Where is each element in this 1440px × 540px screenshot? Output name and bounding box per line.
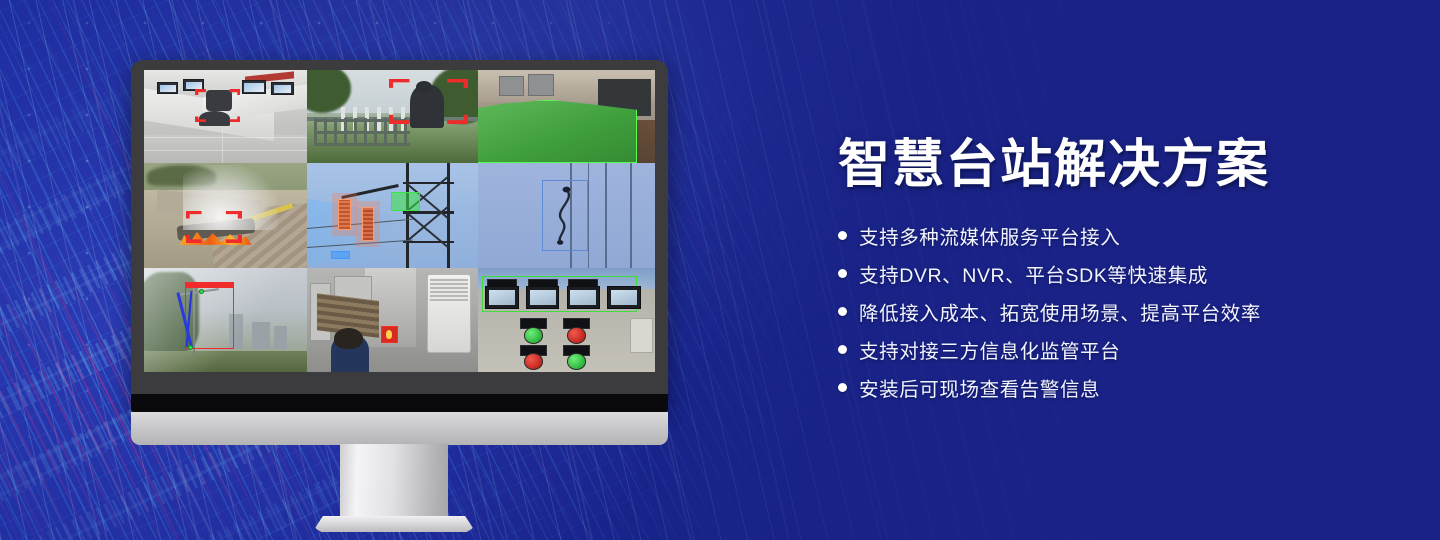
- feature-label: 支持DVR、NVR、平台SDK等快速集成: [859, 259, 1208, 288]
- detection-flame-alarm-icon: [381, 326, 398, 343]
- bullet-dot-icon: [838, 307, 847, 316]
- tower-brace: [406, 212, 451, 250]
- panel-indicator-red-1[interactable]: [567, 327, 586, 344]
- feature-item: 支持多种流媒体服务平台接入: [838, 216, 1398, 254]
- video-wall-grid: [144, 70, 655, 372]
- detection-corner-box-red: [186, 211, 241, 243]
- tarp-concrete-block-2: [528, 74, 555, 96]
- detection-corner-box-red: [389, 79, 468, 124]
- pole-vertex-bottom: [188, 345, 193, 350]
- insulator-highlight-1: [338, 199, 352, 231]
- panel-indicator-green-2[interactable]: [567, 353, 586, 370]
- feature-item: 安装后可现场查看告警信息: [838, 368, 1398, 406]
- indoor-person-head: [334, 328, 363, 349]
- panel-meter-4: [607, 286, 641, 309]
- video-cell-tower-insulators[interactable]: [307, 163, 478, 268]
- panel-meter-2: [526, 286, 560, 309]
- detection-box-green: [391, 192, 420, 211]
- sky-power-line-2: [588, 163, 590, 268]
- room-floor-line-1: [144, 137, 307, 138]
- sky-foreign-object: [549, 186, 581, 245]
- room-monitor-4: [271, 82, 294, 95]
- bullet-dot-icon: [838, 231, 847, 240]
- video-cell-sky-foreign-object[interactable]: [478, 163, 655, 268]
- monitor-stand-base: [315, 516, 473, 532]
- feature-item: 降低接入成本、拓宽使用场景、提高平台效率: [838, 292, 1398, 330]
- monitor-device: [131, 60, 668, 412]
- bullet-dot-icon: [838, 269, 847, 278]
- video-cell-control-panel[interactable]: [478, 268, 655, 372]
- sky-power-line-3: [605, 163, 607, 268]
- feature-label: 支持多种流媒体服务平台接入: [859, 221, 1120, 250]
- sky-power-line-4: [630, 163, 632, 268]
- banner-root: 智慧台站解决方案 支持多种流媒体服务平台接入 支持DVR、NVR、平台SDK等快…: [0, 0, 1440, 540]
- indoor-ac-vent: [430, 278, 468, 301]
- tower-main-leg-2: [447, 163, 450, 268]
- tower-cross-1: [403, 182, 454, 185]
- insulator-highlight-2: [362, 207, 374, 241]
- video-cell-field-fire[interactable]: [144, 163, 307, 268]
- feature-label: 安装后可现场查看告警信息: [859, 373, 1100, 402]
- panel-indicator-green-1[interactable]: [524, 327, 543, 344]
- video-cell-equipment-room[interactable]: [307, 268, 478, 372]
- room-monitor-3: [242, 80, 266, 94]
- detection-polygon-green: [478, 100, 637, 163]
- detection-corner-box-red: [195, 89, 241, 122]
- bullet-dot-icon: [838, 383, 847, 392]
- feature-list: 支持多种流媒体服务平台接入 支持DVR、NVR、平台SDK等快速集成 降低接入成…: [838, 216, 1398, 406]
- bullet-dot-icon: [838, 345, 847, 354]
- room-floor-line-2: [144, 150, 307, 151]
- panel-meter-1: [485, 286, 519, 309]
- feature-label: 支持对接三方信息化监管平台: [859, 335, 1120, 364]
- video-cell-pole-tilt[interactable]: [144, 268, 307, 372]
- monitor-bezel-dark-strip: [131, 394, 668, 412]
- detection-box-blue: [331, 251, 350, 258]
- panel-side-device: [630, 318, 653, 353]
- monitor-bezel: [131, 60, 668, 412]
- video-cell-fence-intruder[interactable]: [307, 70, 478, 163]
- feature-item: 支持DVR、NVR、平台SDK等快速集成: [838, 254, 1398, 292]
- video-cell-control-room[interactable]: [144, 70, 307, 163]
- panel-meter-3: [567, 286, 601, 309]
- copy-block: 智慧台站解决方案 支持多种流媒体服务平台接入 支持DVR、NVR、平台SDK等快…: [838, 136, 1398, 406]
- tarp-concrete-block-1: [499, 76, 524, 96]
- video-cell-green-tarp[interactable]: [478, 70, 655, 163]
- room-monitor-1: [157, 82, 178, 94]
- monitor-stand-neck: [340, 444, 448, 520]
- panel-indicator-red-2[interactable]: [524, 353, 543, 370]
- monitor-bottom-bezel: [131, 412, 668, 445]
- feature-label: 降低接入成本、拓宽使用场景、提高平台效率: [859, 297, 1261, 326]
- room-floor-line-3: [222, 130, 223, 163]
- page-title: 智慧台站解决方案: [838, 136, 1398, 194]
- feature-item: 支持对接三方信息化监管平台: [838, 330, 1398, 368]
